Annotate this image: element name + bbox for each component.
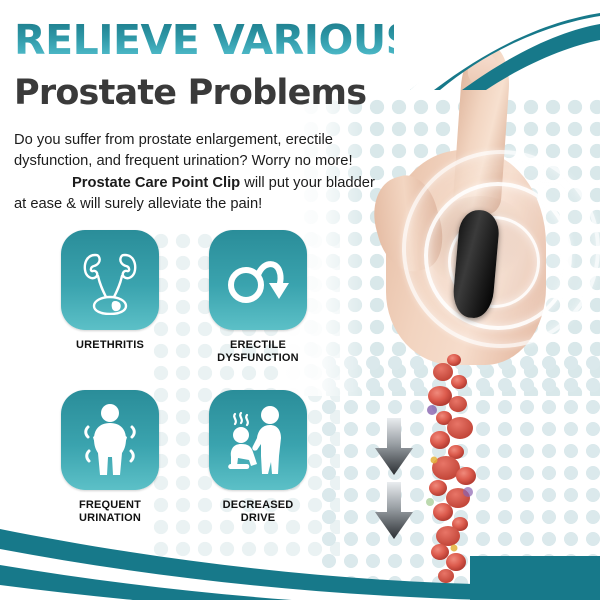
person-urgency-icon [78, 403, 142, 477]
down-arrow-icon-2 [372, 482, 416, 540]
page-title: RELIEVE VARIOUS [14, 20, 394, 61]
body-line-3: will put your bladder [240, 175, 375, 191]
benefit-tile [61, 390, 159, 490]
body-copy: Do you suffer from prostate enlargement,… [14, 130, 382, 215]
body-line-2: dysfunction, and frequent urination? Wor… [14, 153, 353, 169]
benefit-label-line-2: DYSFUNCTION [217, 352, 299, 364]
benefit-label: FREQUENT URINATION [50, 499, 170, 525]
benefit-card-frequent-urination[interactable]: FREQUENT URINATION [50, 390, 170, 525]
poster-canvas: RELIEVE VARIOUS Prostate Problems Do you… [0, 0, 600, 600]
benefit-label: URETHRITIS [50, 339, 170, 352]
benefit-tile [209, 390, 307, 490]
down-arrow-icon-1 [372, 418, 416, 476]
couple-rejection-icon [223, 404, 293, 476]
body-line-1: Do you suffer from prostate enlargement,… [14, 132, 333, 148]
blood-cells-illustration [410, 352, 496, 590]
male-symbol-drooping-arrow-icon [225, 252, 291, 308]
benefit-card-erectile-dysfunction[interactable]: ERECTILE DYSFUNCTION [198, 230, 318, 365]
body-line-4: at ease & will surely alleviate the pain… [14, 196, 262, 212]
benefit-label-line-2: DRIVE [241, 512, 276, 524]
benefit-card-decreased-drive[interactable]: DECREASED DRIVE [198, 390, 318, 525]
page-subtitle: Prostate Problems [14, 76, 414, 111]
benefit-tile [209, 230, 307, 330]
blood-cells-svg [410, 352, 496, 590]
benefit-label-line-1: DECREASED [223, 499, 294, 511]
benefit-label: DECREASED DRIVE [198, 499, 318, 525]
benefit-label-line-1: ERECTILE [230, 339, 286, 351]
product-name: Prostate Care Point Clip [72, 175, 240, 191]
benefit-label-line-1: FREQUENT [79, 499, 141, 511]
corner-block-bottom-right [470, 556, 600, 600]
benefit-label-line-2: URINATION [79, 512, 141, 524]
urinary-system-icon [79, 245, 141, 315]
benefit-card-urethritis[interactable]: URETHRITIS [50, 230, 170, 352]
benefit-tile [61, 230, 159, 330]
benefit-label: ERECTILE DYSFUNCTION [198, 339, 318, 365]
